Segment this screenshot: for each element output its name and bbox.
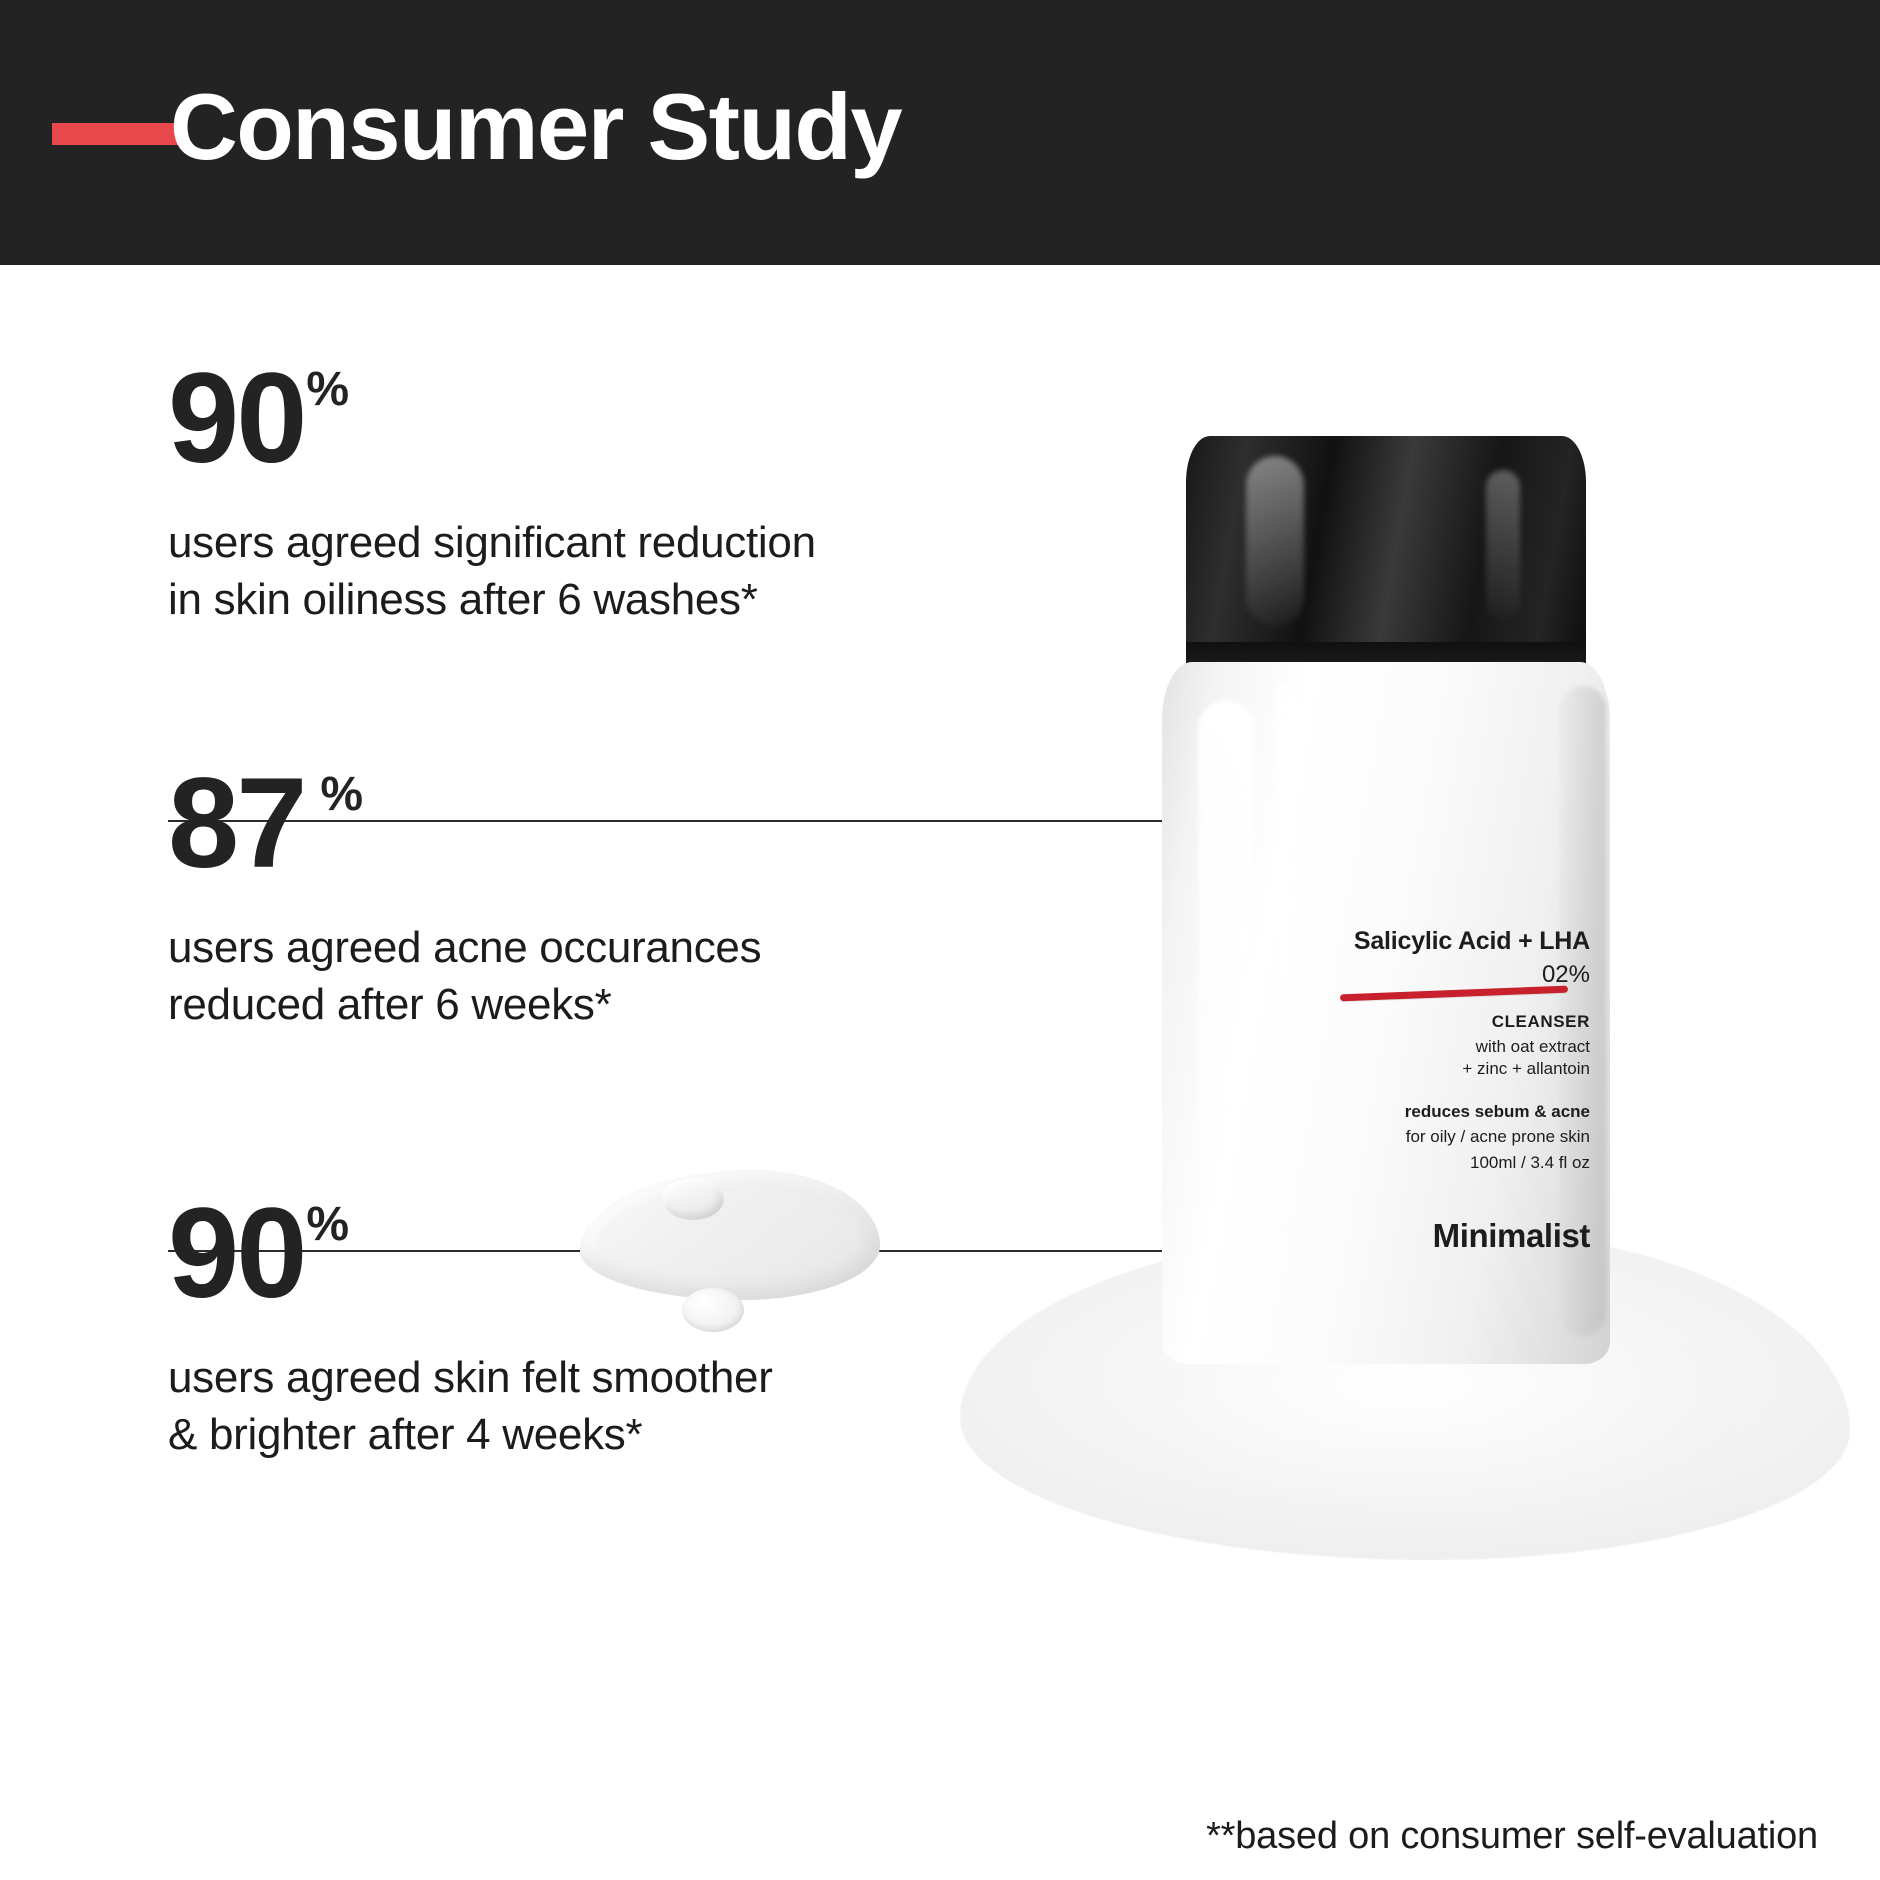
stat-block-2: 87 % users agreed acne occurances reduce… <box>168 765 761 1033</box>
footnote-disclaimer: **based on consumer self-evaluation <box>1206 1815 1818 1858</box>
stat-value-row: 90 % <box>168 360 816 478</box>
red-accent-bar <box>52 123 180 145</box>
label-ingredients: with oat extract + zinc + allantoin <box>1322 1036 1590 1082</box>
stat-description: users agreed significant reduction in sk… <box>168 514 816 628</box>
percent-symbol: % <box>320 771 363 819</box>
label-concentration: 02% <box>1322 959 1590 990</box>
stat-number: 87 <box>168 765 304 883</box>
page-header: Consumer Study <box>0 0 1880 265</box>
bottle-cap <box>1186 436 1586 668</box>
bottle-highlight-secondary <box>1274 682 1296 1342</box>
brand-name: Minimalist <box>1322 1217 1590 1255</box>
stat-number: 90 <box>168 360 304 478</box>
gel-blob-bubble <box>662 1178 724 1220</box>
gel-blob <box>580 1170 880 1300</box>
product-bottle: Salicylic Acid + LHA 02% CLEANSER with o… <box>1162 436 1610 1364</box>
stat-value-row: 87 % <box>168 765 761 883</box>
stat-number: 90 <box>168 1195 304 1313</box>
stat-block-1: 90 % users agreed significant reduction … <box>168 360 816 628</box>
percent-symbol: % <box>306 1201 349 1249</box>
cap-highlight <box>1246 456 1304 626</box>
percent-symbol: % <box>306 366 349 414</box>
bottle-highlight <box>1198 700 1254 1300</box>
label-benefit: reduces sebum & acne <box>1322 1101 1590 1123</box>
product-photo: Salicylic Acid + LHA 02% CLEANSER with o… <box>1040 400 1880 1700</box>
gel-droplet <box>682 1288 744 1332</box>
label-volume: 100ml / 3.4 fl oz <box>1322 1152 1590 1175</box>
label-product-type: CLEANSER <box>1322 1012 1590 1032</box>
stat-description: users agreed skin felt smoother & bright… <box>168 1349 773 1463</box>
page-title: Consumer Study <box>170 78 901 177</box>
label-skin-type: for oily / acne prone skin <box>1322 1126 1590 1149</box>
stat-description: users agreed acne occurances reduced aft… <box>168 919 761 1033</box>
cap-highlight-secondary <box>1486 470 1520 620</box>
label-product-name: Salicylic Acid + LHA <box>1322 926 1590 957</box>
product-label: Salicylic Acid + LHA 02% CLEANSER with o… <box>1322 926 1590 1255</box>
